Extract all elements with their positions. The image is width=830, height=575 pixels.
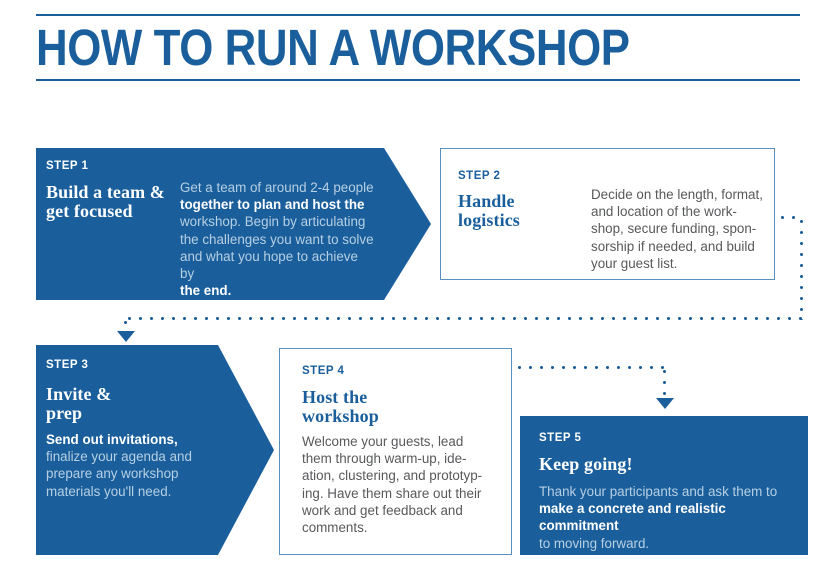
connector-step2-step3-segment-left — [124, 317, 802, 320]
step-4-label: STEP 4 — [302, 365, 344, 378]
step-2-body: Decide on the length, format, and locati… — [591, 186, 771, 272]
connector-step4-step5-segment-right — [514, 366, 666, 369]
step-3-heading: Invite & prep — [46, 385, 111, 423]
step-2-heading: Handle logistics — [458, 192, 520, 230]
step-4-body: Welcome your guests, lead them through w… — [302, 433, 487, 536]
connector-step4-step5-segment-down — [663, 366, 666, 400]
step-5-body: Thank your participants and ask them to … — [539, 483, 804, 552]
step-2-card: STEP 2 Handle logistics Decide on the le… — [440, 148, 775, 280]
step-1-label: STEP 1 — [46, 160, 88, 173]
step-3-card: STEP 3 Invite & prep Send out invitation… — [36, 345, 274, 555]
connector-step4-step5-arrowhead-icon — [656, 398, 674, 409]
title-rule-bottom — [36, 79, 800, 81]
step-5-label: STEP 5 — [539, 432, 581, 445]
step-1-heading: Build a team & get focused — [46, 183, 165, 221]
step-3-label: STEP 3 — [46, 359, 88, 372]
page-title: HOW TO RUN A WORKSHOP — [36, 20, 630, 76]
step-1-body: Get a team of around 2-4 people together… — [180, 179, 375, 299]
infographic-canvas: HOW TO RUN A WORKSHOP STEP 1 Build a tea… — [0, 0, 830, 575]
step-5-card: STEP 5 Keep going! Thank your participan… — [520, 416, 808, 555]
step-1-card: STEP 1 Build a team & get focused Get a … — [36, 148, 431, 300]
connector-step2-step3-segment-down — [800, 216, 803, 320]
step-3-body: Send out invitations, finalize your agen… — [46, 431, 231, 500]
step-4-card: STEP 4 Host the workshop Welcome your gu… — [279, 348, 512, 555]
title-rule-top — [36, 14, 800, 16]
step-4-heading: Host the workshop — [302, 388, 379, 426]
step-5-heading: Keep going! — [539, 455, 633, 474]
connector-step2-step3-arrowhead-icon — [117, 331, 135, 342]
step-2-label: STEP 2 — [458, 170, 500, 183]
